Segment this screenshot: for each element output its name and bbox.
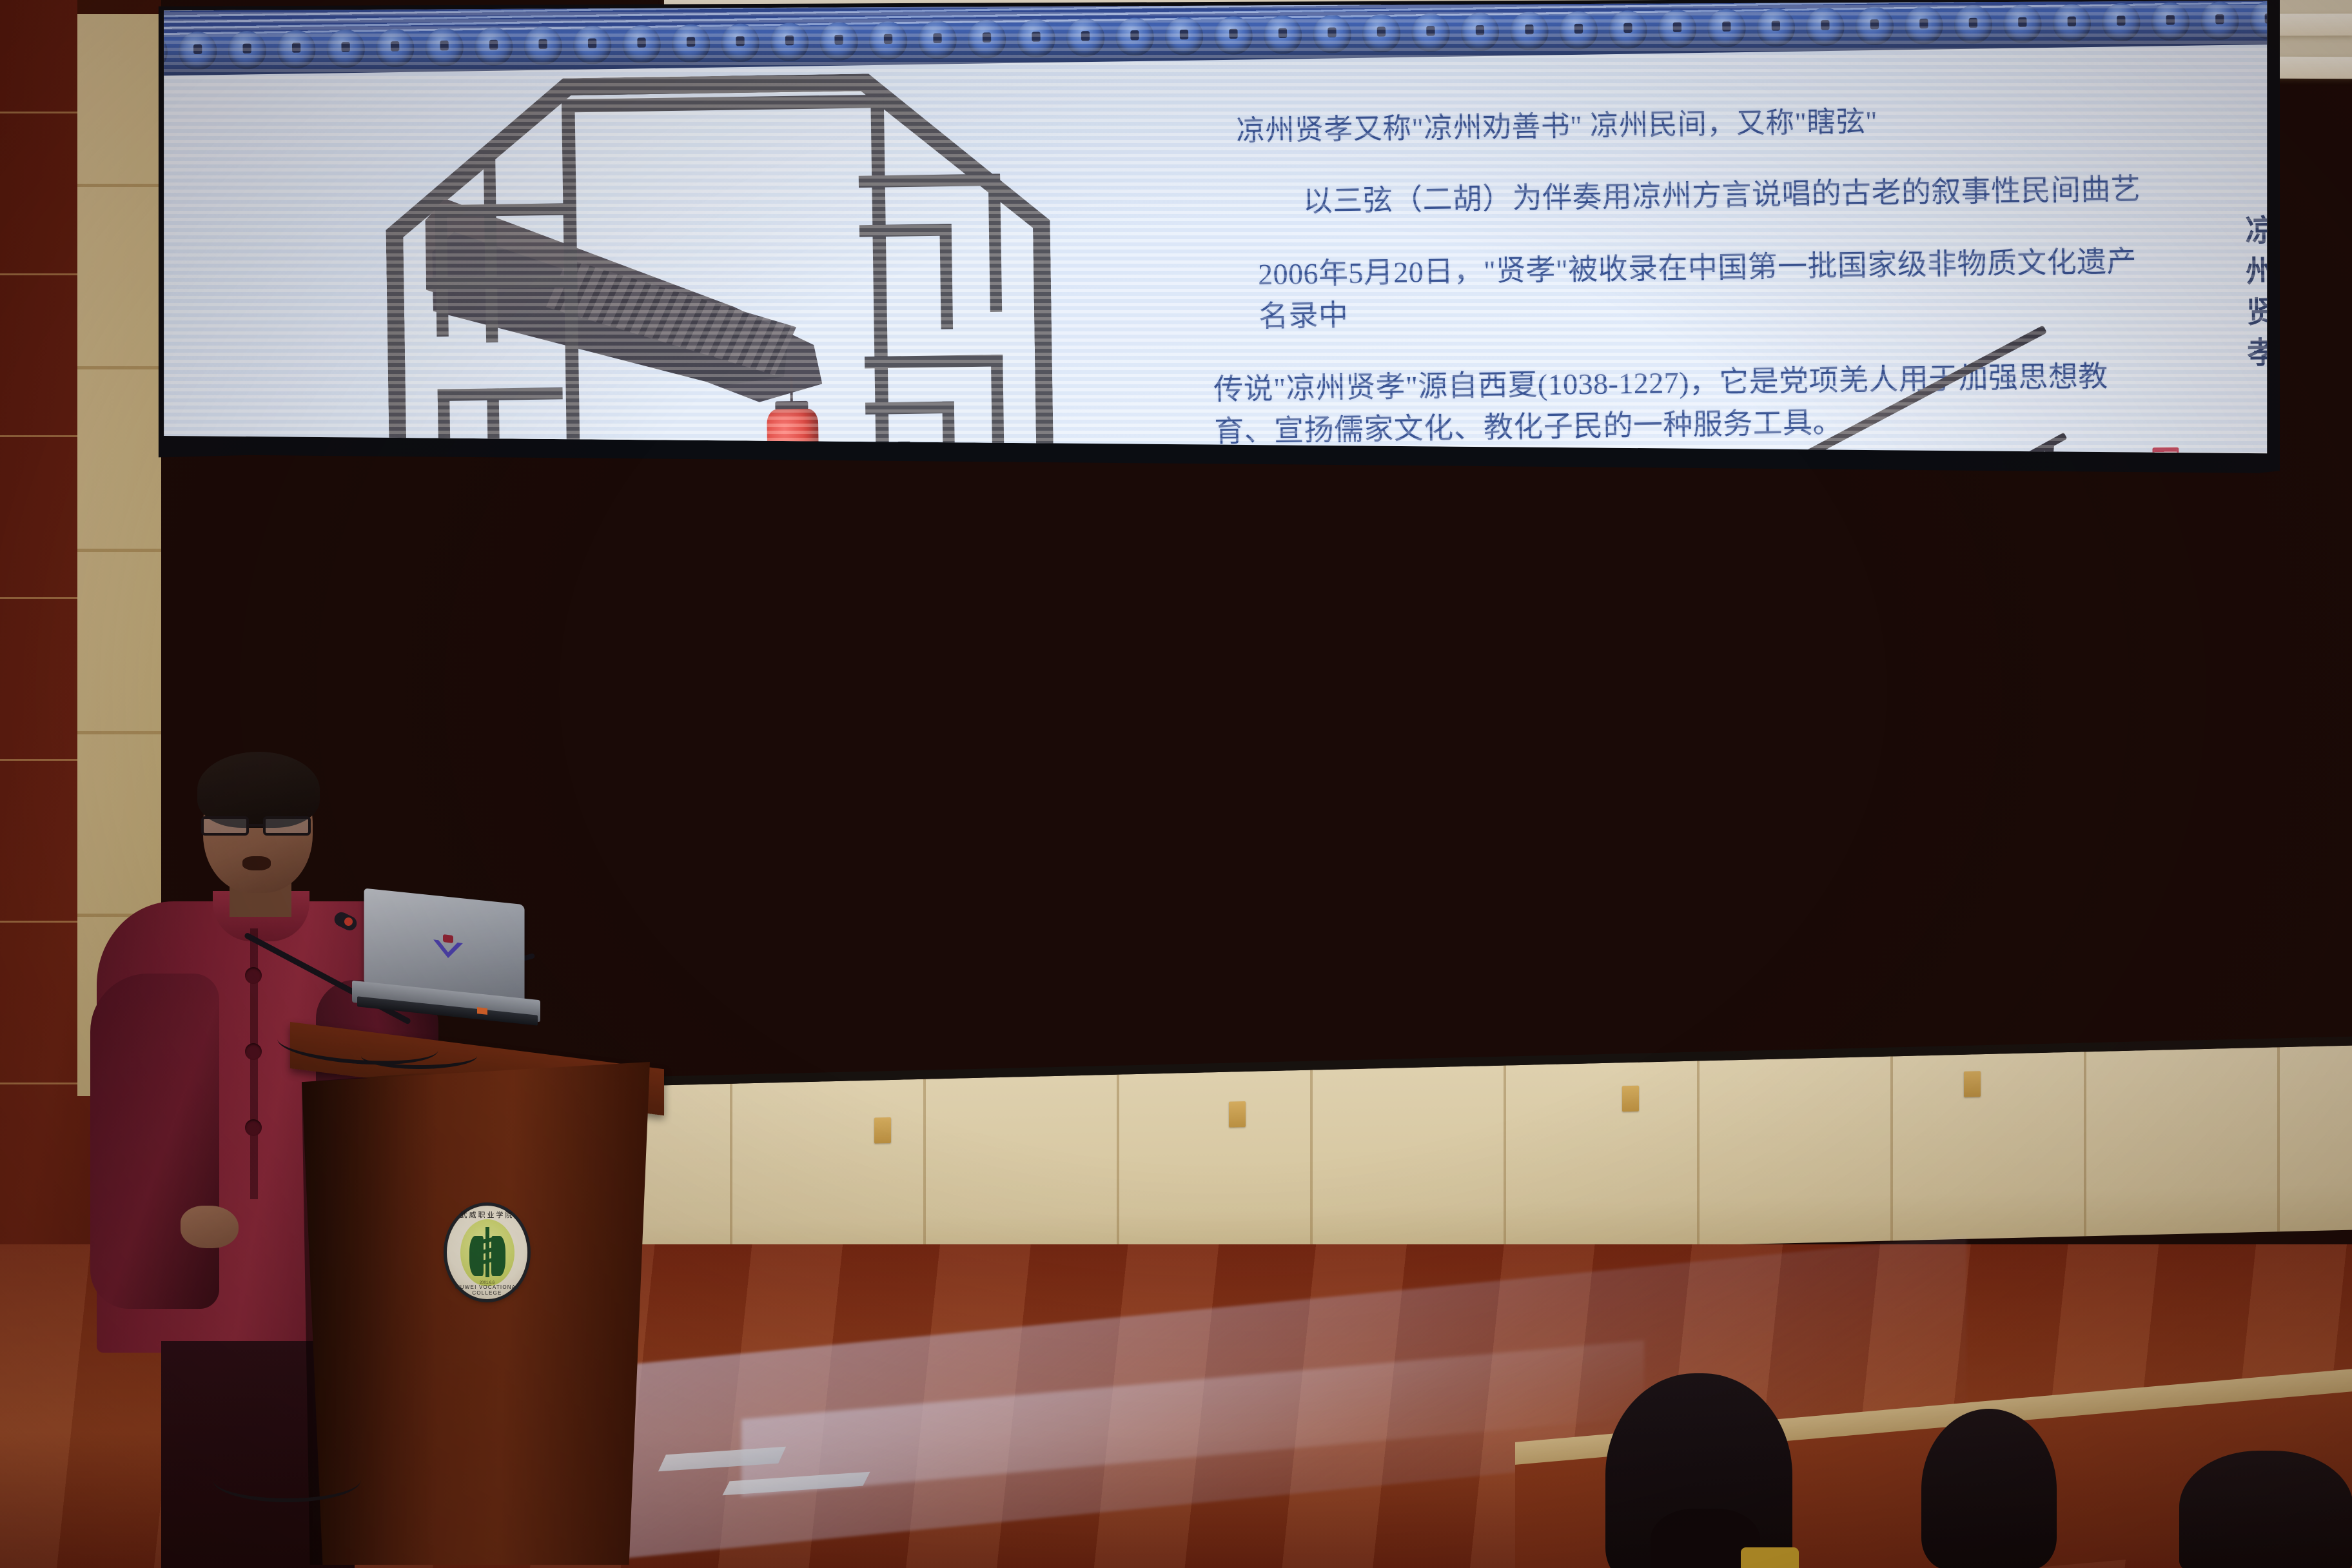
slide-text-block: 凉州贤孝又称"凉州劝善书" 凉州民间，又称"瞎弦" 以三弦（二胡）为伴奏用凉州方…: [1230, 97, 2169, 484]
lecture-hall-scene: 凉州贤孝又称"凉州劝善书" 凉州民间，又称"瞎弦" 以三弦（二胡）为伴奏用凉州方…: [0, 0, 2352, 1568]
slide-paragraph-2: 以三弦（二胡）为伴奏用凉州方言说唱的古老的叙事性民间曲艺: [1302, 169, 2164, 224]
emblem-disc: [460, 1219, 514, 1286]
sanxian-instrument-icon: [1694, 434, 2106, 690]
audience-clothing: [1741, 1547, 1799, 1568]
slide-paragraph-3: 2006年5月20日，"贤孝"被收录在中国第一批国家级非物质文化遗产名录中: [1258, 241, 2166, 338]
pillar-top-trim: [77, 0, 161, 14]
emblem-english-name: WUWEI VOCATIONAL COLLEGE: [447, 1284, 527, 1296]
octagon-lattice-window-icon: [384, 71, 1055, 613]
speaker-left-arm: [90, 974, 219, 1309]
cable: [213, 1457, 361, 1502]
vertical-calligraphy-title: 国家级非物质文化遗产 凉州贤孝: [2122, 43, 2280, 505]
emblem-chinese-name: 武威职业学院: [447, 1210, 527, 1220]
slide-paragraph-1: 凉州贤孝又称"凉州劝善书" 凉州民间，又称"瞎弦": [1236, 97, 2164, 152]
roof-tile-border: [152, 0, 2280, 76]
glasses-icon: [201, 816, 317, 836]
speaker-hand: [181, 1206, 239, 1248]
college-emblem: 武威职业学院 2001.6.6 WUWEI VOCATIONAL COLLEGE: [447, 1206, 527, 1299]
wall-outlet: [1622, 1086, 1639, 1112]
laptop-indicator: [477, 1007, 487, 1015]
window-inner-frame: [562, 95, 891, 589]
wall-outlet: [1229, 1101, 1246, 1128]
audience-head: [2179, 1451, 2352, 1568]
microphone-indicator: [344, 917, 353, 926]
wall-outlet: [1964, 1071, 1981, 1097]
cable: [361, 1043, 477, 1069]
laptop-logo-icon: [433, 934, 463, 961]
audience-head: [1921, 1409, 2057, 1568]
wall-outlet: [874, 1117, 891, 1144]
